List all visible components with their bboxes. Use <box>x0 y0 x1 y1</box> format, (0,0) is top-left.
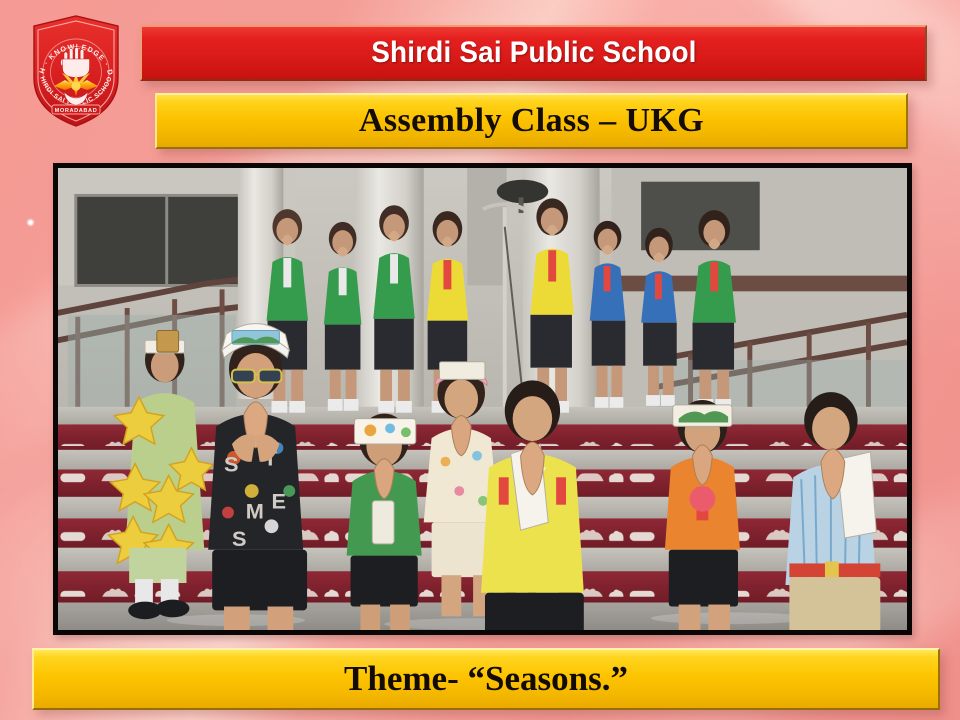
assembly-photograph: S T M E S <box>58 168 907 630</box>
svg-text:MORADABAD: MORADABAD <box>55 108 98 114</box>
theme-text: Theme- “Seasons.” <box>344 659 628 699</box>
theme-banner: Theme- “Seasons.” <box>32 648 940 710</box>
school-name-text: Shirdi Sai Public School <box>371 36 696 70</box>
assembly-subtitle-banner: Assembly Class – UKG <box>155 93 908 149</box>
assembly-subtitle-text: Assembly Class – UKG <box>359 102 704 140</box>
assembly-photo-frame: S T M E S <box>53 163 912 635</box>
presentation-slide: FAITH · KNOWLEDGE · DUTY SHIRDI SAI PUBL… <box>0 0 960 720</box>
school-name-banner: Shirdi Sai Public School <box>140 25 927 81</box>
school-crest-logo: FAITH · KNOWLEDGE · DUTY SHIRDI SAI PUBL… <box>24 12 128 130</box>
sparkle-dot-icon <box>26 218 35 227</box>
